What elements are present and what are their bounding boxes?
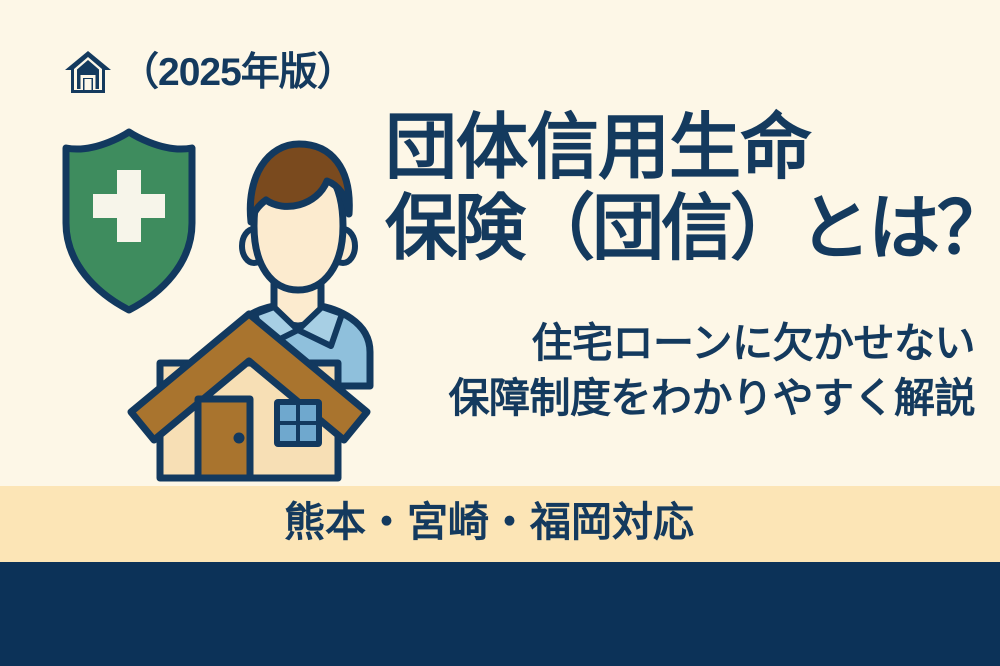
subtitle-line-1: 住宅ローンに欠かせない xyxy=(375,316,975,371)
hero-illustration xyxy=(52,118,402,488)
coverage-banner-label: 熊本・宮崎・福岡対応 xyxy=(0,496,989,549)
shield-with-cross-icon xyxy=(66,132,192,310)
header-badge-label: （2025年版） xyxy=(120,53,355,92)
poster-canvas: （2025年版） xyxy=(0,0,1000,666)
title-line-2: 保険（団信）とは？ xyxy=(385,189,975,270)
subtitle-line-2: 保障制度をわかりやすく解説 xyxy=(375,371,975,426)
title-line-1: 団体信用生命 xyxy=(385,108,975,189)
page-subtitle: 住宅ローンに欠かせない 保障制度をわかりやすく解説 xyxy=(375,316,975,427)
house-icon xyxy=(62,48,114,96)
page-title: 団体信用生命 保険（団信）とは？ xyxy=(385,108,975,271)
header-badge: （2025年版） xyxy=(62,48,355,96)
background-band-navy xyxy=(0,562,1000,666)
